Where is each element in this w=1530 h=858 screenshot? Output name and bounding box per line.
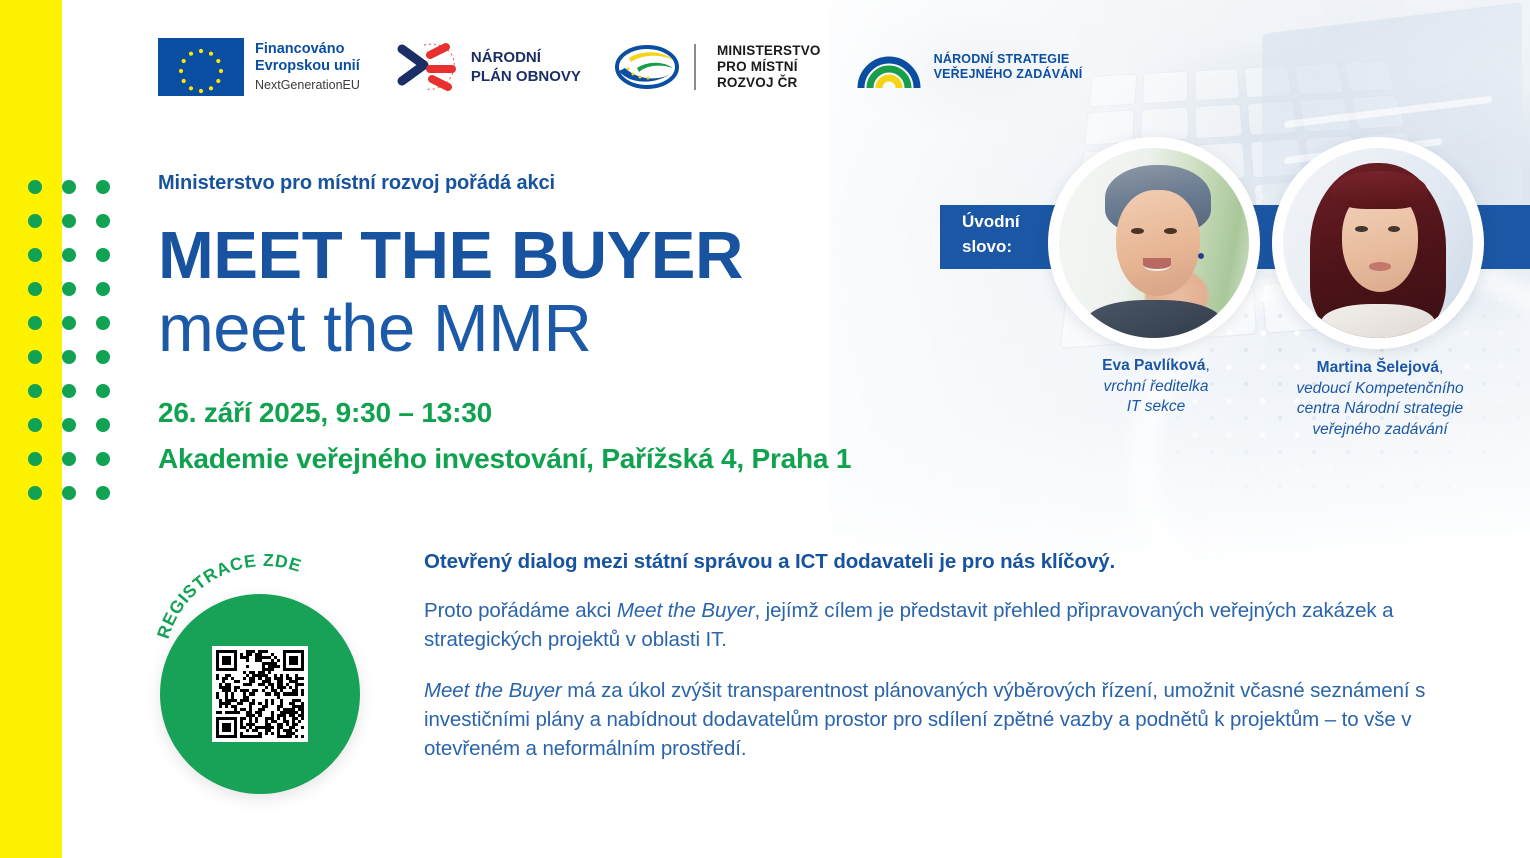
dot bbox=[62, 350, 76, 364]
dot bbox=[28, 180, 42, 194]
dot bbox=[96, 452, 110, 466]
dot bbox=[96, 418, 110, 432]
earring-shape bbox=[1198, 253, 1204, 259]
eu-flag-icon bbox=[158, 38, 244, 96]
speaker-name: Eva Pavlíková bbox=[1102, 357, 1205, 374]
speaker-name: Martina Šelejová bbox=[1317, 359, 1439, 376]
avatar bbox=[1059, 148, 1249, 338]
poster-canvas: Financováno Evropskou unií NextGeneratio… bbox=[0, 0, 1530, 858]
event-title-main: MEET THE BUYER bbox=[158, 223, 851, 289]
copy-paragraph-2: Meet the Buyer má za úkol zvýšit transpa… bbox=[424, 676, 1434, 763]
copy-p1-before: Proto pořádáme akci bbox=[424, 599, 617, 622]
event-datetime: 26. září 2025, 9:30 – 13:30 bbox=[158, 397, 851, 429]
dot bbox=[62, 180, 76, 194]
logo-narodni-strategie-verejneho-zadavani: NÁRODNÍ STRATEGIE VEŘEJNÉHO ZADÁVÁNÍ bbox=[855, 42, 1083, 92]
logo-eu-nextgeneration: Financováno Evropskou unií NextGeneratio… bbox=[158, 38, 360, 96]
registration-badge[interactable]: REGISTRACE ZDE bbox=[152, 552, 372, 800]
green-dot-grid bbox=[28, 180, 130, 520]
dot bbox=[28, 350, 42, 364]
dot bbox=[96, 248, 110, 262]
eu-line3: NextGenerationEU bbox=[255, 78, 360, 93]
shoulder-shape bbox=[1086, 300, 1223, 338]
event-kicker: Ministerstvo pro místní rozvoj pořádá ak… bbox=[158, 172, 851, 195]
copy-p2-after: má za úkol zvýšit transparentnost plánov… bbox=[424, 679, 1425, 760]
speaker-portrait-eva-pavlikova bbox=[1048, 137, 1260, 349]
logo-nsvz-text: NÁRODNÍ STRATEGIE VEŘEJNÉHO ZADÁVÁNÍ bbox=[934, 52, 1083, 83]
eu-stars-icon bbox=[158, 38, 244, 96]
npo-arrows-icon bbox=[394, 39, 460, 95]
eye-left-shape bbox=[1355, 226, 1367, 232]
intro-word-line1: Úvodní bbox=[962, 210, 1048, 235]
eu-line1: Financováno bbox=[255, 41, 360, 58]
intro-word-line2: slovo: bbox=[962, 235, 1048, 260]
dot bbox=[96, 214, 110, 228]
collar-shape bbox=[1321, 304, 1435, 338]
lips-shape bbox=[1369, 262, 1392, 271]
dot bbox=[28, 384, 42, 398]
speaker-role-line1: vedoucí Kompetenčního bbox=[1254, 379, 1506, 400]
eu-line2: Evropskou unií bbox=[255, 58, 360, 75]
copy-paragraph-1: Proto pořádáme akci Meet the Buyer, její… bbox=[424, 596, 1434, 654]
dot bbox=[62, 452, 76, 466]
logo-npo-text: NÁRODNÍ PLÁN OBNOVY bbox=[471, 49, 581, 85]
speaker-role-line3: veřejného zadávání bbox=[1254, 420, 1506, 441]
dot bbox=[96, 486, 110, 500]
speaker-name-suffix: , bbox=[1206, 357, 1210, 374]
npo-line1: NÁRODNÍ bbox=[471, 49, 581, 66]
dot bbox=[28, 214, 42, 228]
speaker-role-line2: IT sekce bbox=[1038, 397, 1274, 418]
dot bbox=[62, 384, 76, 398]
event-title-sub: meet the MMR bbox=[158, 295, 851, 363]
mmr-emblem-icon bbox=[615, 44, 679, 90]
logo-eu-text: Financováno Evropskou unií NextGeneratio… bbox=[255, 41, 360, 93]
mmr-line3: ROZVOJ ČR bbox=[717, 75, 821, 91]
intro-word-label: Úvodní slovo: bbox=[962, 210, 1048, 259]
speaker-portrait-martina-selejova bbox=[1272, 137, 1484, 349]
dot bbox=[62, 418, 76, 432]
npo-line2: PLÁN OBNOVY bbox=[471, 68, 581, 85]
dot bbox=[62, 214, 76, 228]
dot bbox=[28, 418, 42, 432]
nsvz-line1: NÁRODNÍ STRATEGIE bbox=[934, 52, 1083, 67]
dot bbox=[28, 486, 42, 500]
speaker-caption-2: Martina Šelejová, vedoucí Kompetenčního … bbox=[1254, 358, 1506, 440]
nsvz-line2: VEŘEJNÉHO ZADÁVÁNÍ bbox=[934, 67, 1083, 82]
dot bbox=[62, 316, 76, 330]
dot bbox=[28, 316, 42, 330]
portrait-photo-icon bbox=[1059, 148, 1249, 338]
dot bbox=[62, 282, 76, 296]
mmr-line1: MINISTERSTVO bbox=[717, 43, 821, 59]
dot bbox=[96, 350, 110, 364]
dot bbox=[62, 248, 76, 262]
headline-block: Ministerstvo pro místní rozvoj pořádá ak… bbox=[158, 172, 851, 475]
dot bbox=[28, 248, 42, 262]
speaker-role-line1: vrchní ředitelka bbox=[1038, 377, 1274, 398]
dot bbox=[62, 486, 76, 500]
qr-code-icon[interactable] bbox=[212, 646, 308, 742]
dot bbox=[96, 180, 110, 194]
logo-ministerstvo-pro-mistni-rozvoj: MINISTERSTVO PRO MÍSTNÍ ROZVOJ ČR bbox=[615, 43, 821, 92]
dot bbox=[96, 384, 110, 398]
head-shape bbox=[1116, 190, 1200, 296]
dot bbox=[96, 282, 110, 296]
copy-p2-emphasis: Meet the Buyer bbox=[424, 679, 562, 702]
portrait-photo-icon bbox=[1283, 148, 1473, 338]
nsvz-arcs-icon bbox=[855, 42, 923, 92]
speaker-caption-1: Eva Pavlíková, vrchní ředitelka IT sekce bbox=[1038, 356, 1274, 418]
funding-logo-strip: Financováno Evropskou unií NextGeneratio… bbox=[158, 38, 1082, 96]
eye-right-shape bbox=[1388, 226, 1400, 232]
speaker-name-suffix: , bbox=[1439, 359, 1443, 376]
speaker-role-line2: centra Národní strategie bbox=[1254, 399, 1506, 420]
qr-modules bbox=[216, 650, 304, 738]
dot bbox=[28, 452, 42, 466]
dot bbox=[28, 282, 42, 296]
avatar bbox=[1283, 148, 1473, 338]
body-copy: Otevřený dialog mezi státní správou a IC… bbox=[424, 550, 1434, 764]
copy-lead: Otevřený dialog mezi státní správou a IC… bbox=[424, 550, 1434, 574]
registration-qr-circle[interactable] bbox=[160, 594, 360, 794]
event-venue: Akademie veřejného investování, Pařížská… bbox=[158, 443, 851, 475]
logo-mmr-text: MINISTERSTVO PRO MÍSTNÍ ROZVOJ ČR bbox=[717, 43, 821, 92]
logo-divider bbox=[694, 44, 696, 90]
logo-narodni-plan-obnovy: NÁRODNÍ PLÁN OBNOVY bbox=[394, 39, 581, 95]
fringe-shape bbox=[1332, 171, 1427, 209]
dot bbox=[96, 316, 110, 330]
mmr-line2: PRO MÍSTNÍ bbox=[717, 59, 821, 75]
copy-p1-emphasis: Meet the Buyer bbox=[617, 599, 755, 622]
